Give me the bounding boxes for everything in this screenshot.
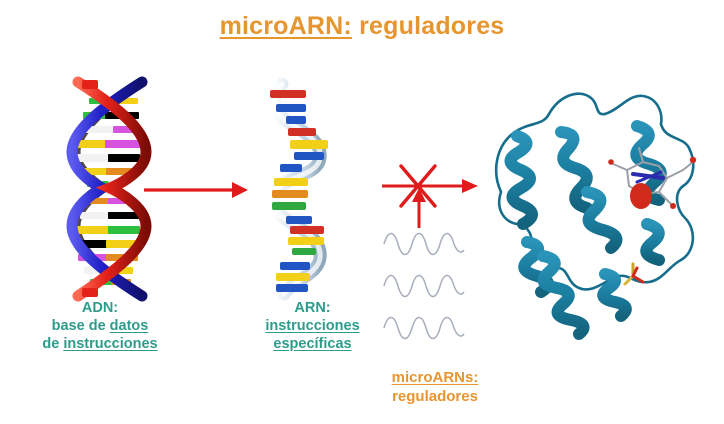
page-title-rest: reguladores <box>352 12 504 40</box>
rna-caption-line-2: instrucciones <box>240 318 385 336</box>
microrna-caption-line-2: reguladores <box>355 388 515 407</box>
dna-cap-top <box>82 80 98 89</box>
rna-caption-line-3: específicas <box>240 336 385 354</box>
microrna-wave-1 <box>384 234 464 255</box>
microrna-wave-2 <box>384 276 464 297</box>
microrna-waves <box>384 234 464 339</box>
dna-cap-bottom <box>82 288 98 297</box>
protein-ribbon-structure <box>487 74 715 306</box>
arrow-rna-to-protein <box>382 179 478 193</box>
dna-caption-line-3-plain: de <box>42 336 63 352</box>
dna-caption-line-2: base de datos <box>5 318 195 336</box>
microrna-inhibition-group <box>372 152 492 352</box>
page-title-underlined: microARN: <box>220 12 352 40</box>
dna-caption-line-3-underlined: instrucciones <box>63 336 157 352</box>
microrna-wave-3 <box>384 318 464 339</box>
dna-caption-line-3: de instrucciones <box>5 336 195 354</box>
rna-caption-line-1: ARN: <box>240 300 385 318</box>
microrna-caption-line-1: microARNs: <box>355 369 515 388</box>
dna-caption-line-2-underlined: datos <box>110 318 149 334</box>
arrow-dna-to-rna <box>140 168 250 212</box>
dna-caption-line-1: ADN: <box>5 300 195 318</box>
rna-single-strand <box>248 82 352 298</box>
protein-helices <box>510 126 660 334</box>
dna-caption-line-2-plain: base de <box>52 318 110 334</box>
rna-caption: ARN: instrucciones específicas <box>240 300 385 354</box>
slide-canvas: microARN: reguladores <box>0 0 724 424</box>
microrna-caption: microARNs: reguladores <box>355 369 515 406</box>
page-title: microARN: reguladores <box>0 12 724 41</box>
dna-caption: ADN: base de datos de instrucciones <box>5 300 195 354</box>
